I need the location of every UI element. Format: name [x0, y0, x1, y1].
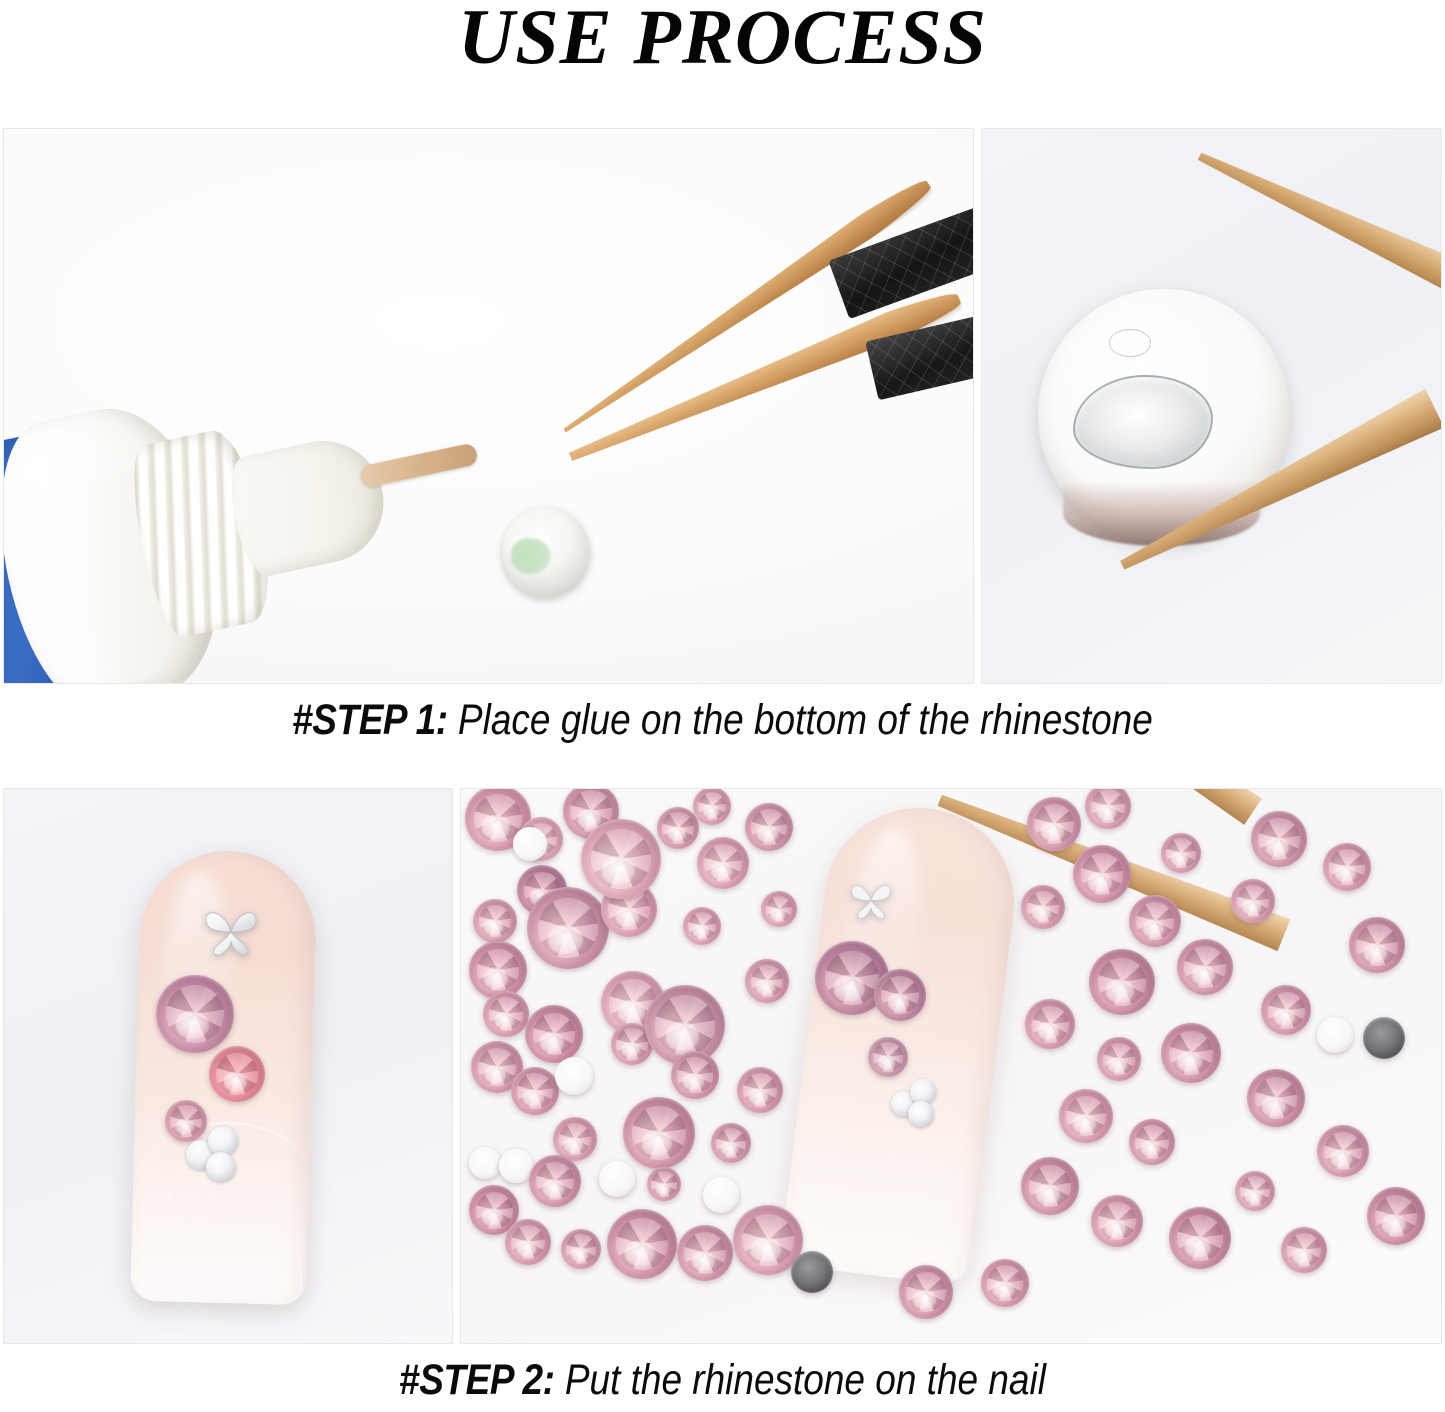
page-title: USE PROCESS [0, 0, 1445, 78]
rhinestone-scatter [1317, 1125, 1369, 1177]
rhinestone-back-foil [791, 1251, 833, 1293]
step-1-text: Place glue on the bottom of the rhinesto… [448, 696, 1153, 744]
rhinestone-scatter [1161, 833, 1201, 873]
step-2-label: #STEP 2: [399, 1356, 554, 1404]
glue-smear [1109, 329, 1151, 356]
rhinestone-scatter [981, 1259, 1029, 1307]
rhinestone-scatter [1073, 845, 1131, 903]
rhinestone-scatter [553, 1117, 597, 1161]
rhinestone-scatter [1059, 1089, 1113, 1143]
rhinestone-scatter [1091, 1195, 1143, 1247]
rhinestone-back-white [469, 1147, 501, 1179]
rhinestone-scatter [525, 1005, 583, 1063]
rhinestone-scatter [697, 837, 749, 889]
crystal-cluster-icon [186, 1126, 244, 1184]
rhinestone-scatter [1261, 985, 1311, 1035]
step-2-text: Put the rhinestone on the nail [555, 1356, 1046, 1404]
rhinestone-back-white [555, 1057, 593, 1095]
photo-glue-bottle-and-tweezers [3, 128, 974, 684]
rhinestone-medium-pink [209, 1046, 265, 1102]
rhinestone-scatter [561, 1229, 601, 1269]
rhinestone-back-white [1317, 1017, 1353, 1053]
rhinestone-scatter [469, 941, 527, 999]
rhinestone-back-foil [1363, 1017, 1405, 1059]
rhinestone-scatter [1231, 879, 1275, 923]
glue-bottle [3, 336, 469, 684]
rhinestone-scatter [899, 1265, 953, 1319]
rhinestone-medium-on-nail [874, 969, 926, 1021]
rhinestone-scatter [1021, 885, 1065, 929]
rhinestone-scatter [745, 803, 793, 851]
rhinestone-scatter [1027, 797, 1081, 851]
step-1-label: #STEP 1: [292, 696, 447, 744]
rhinestone-back-white [513, 827, 547, 861]
photo-rhinestone-glue-closeup [981, 128, 1442, 684]
tweezer-upper-gold-tip [1190, 135, 1442, 319]
glue-drop [1073, 375, 1213, 470]
step-1-photo-row [3, 128, 1442, 684]
butterfly-charm-icon [200, 902, 262, 958]
crystal-cluster-icon [891, 1079, 941, 1129]
rhinestone-back-white [499, 1149, 533, 1183]
rhinestone-scatter [1247, 1069, 1305, 1127]
rhinestone-scatter [505, 1219, 551, 1265]
step-2-photo-row [3, 788, 1442, 1344]
rhinestone-scatter [1169, 1207, 1231, 1269]
rhinestone-scatter [683, 907, 721, 945]
rhinestone-scatter [1097, 1037, 1141, 1081]
rhinestone-scatter [581, 819, 661, 899]
rhinestone-scatter [737, 1067, 783, 1113]
rhinestone-scatter [1025, 999, 1075, 1049]
glue-bottle-neck [223, 430, 395, 581]
rhinestone-scatter [761, 891, 797, 927]
caption-step-1: #STEP 1: Place glue on the bottom of the… [101, 696, 1344, 745]
rhinestone-scatter [607, 1209, 677, 1279]
rhinestone-scatter [1021, 1157, 1079, 1215]
rhinestone-back-white [703, 1177, 739, 1213]
rhinestone-back-white [599, 1161, 635, 1197]
rhinestone-scatter [511, 1067, 559, 1115]
rhinestone-scatter [1161, 1023, 1221, 1083]
rhinestone-scatter [677, 1225, 733, 1281]
rhinestone-scatter [483, 991, 529, 1037]
rhinestone-scatter [1085, 788, 1131, 829]
rhinestone-scatter [1281, 1227, 1327, 1273]
photo-finished-nail [3, 788, 453, 1344]
caption-step-2: #STEP 2: Put the rhinestone on the nail [101, 1356, 1344, 1405]
photo-rhinestones-scatter [460, 788, 1442, 1344]
glue-bottle-metal-tip [359, 442, 479, 488]
rhinestone-scatter [647, 1167, 681, 1201]
rhinestone-scatter [1089, 949, 1155, 1015]
rhinestone-with-glue [502, 507, 590, 597]
rhinestone-scatter [1367, 1187, 1425, 1245]
crystal-piece [908, 1101, 934, 1127]
rhinestone-scatter [1129, 895, 1181, 947]
rhinestone-scatter [473, 899, 517, 943]
rhinestone-scatter [711, 1123, 751, 1163]
rhinestone-scatter [1235, 1171, 1275, 1211]
rhinestone-scatter [1177, 939, 1233, 995]
rhinestone-scatter [1323, 843, 1371, 891]
rhinestone-scatter [693, 788, 731, 825]
rhinestone-large-mauve [156, 975, 234, 1053]
rhinestone-scatter [527, 887, 609, 969]
rhinestone-scatter [623, 1097, 695, 1169]
rhinestone-scatter [529, 1155, 581, 1207]
crystal-piece [206, 1152, 236, 1182]
butterfly-charm-icon [847, 877, 895, 921]
rhinestone-scatter [1129, 1119, 1175, 1165]
rhinestone-scatter [671, 1051, 719, 1099]
rhinestone-scatter [657, 807, 699, 849]
rhinestone-scatter [1349, 917, 1405, 973]
rhinestone-scatter [745, 959, 789, 1003]
rhinestone-small-on-nail [868, 1037, 908, 1077]
rhinestone-scatter [1251, 811, 1307, 867]
